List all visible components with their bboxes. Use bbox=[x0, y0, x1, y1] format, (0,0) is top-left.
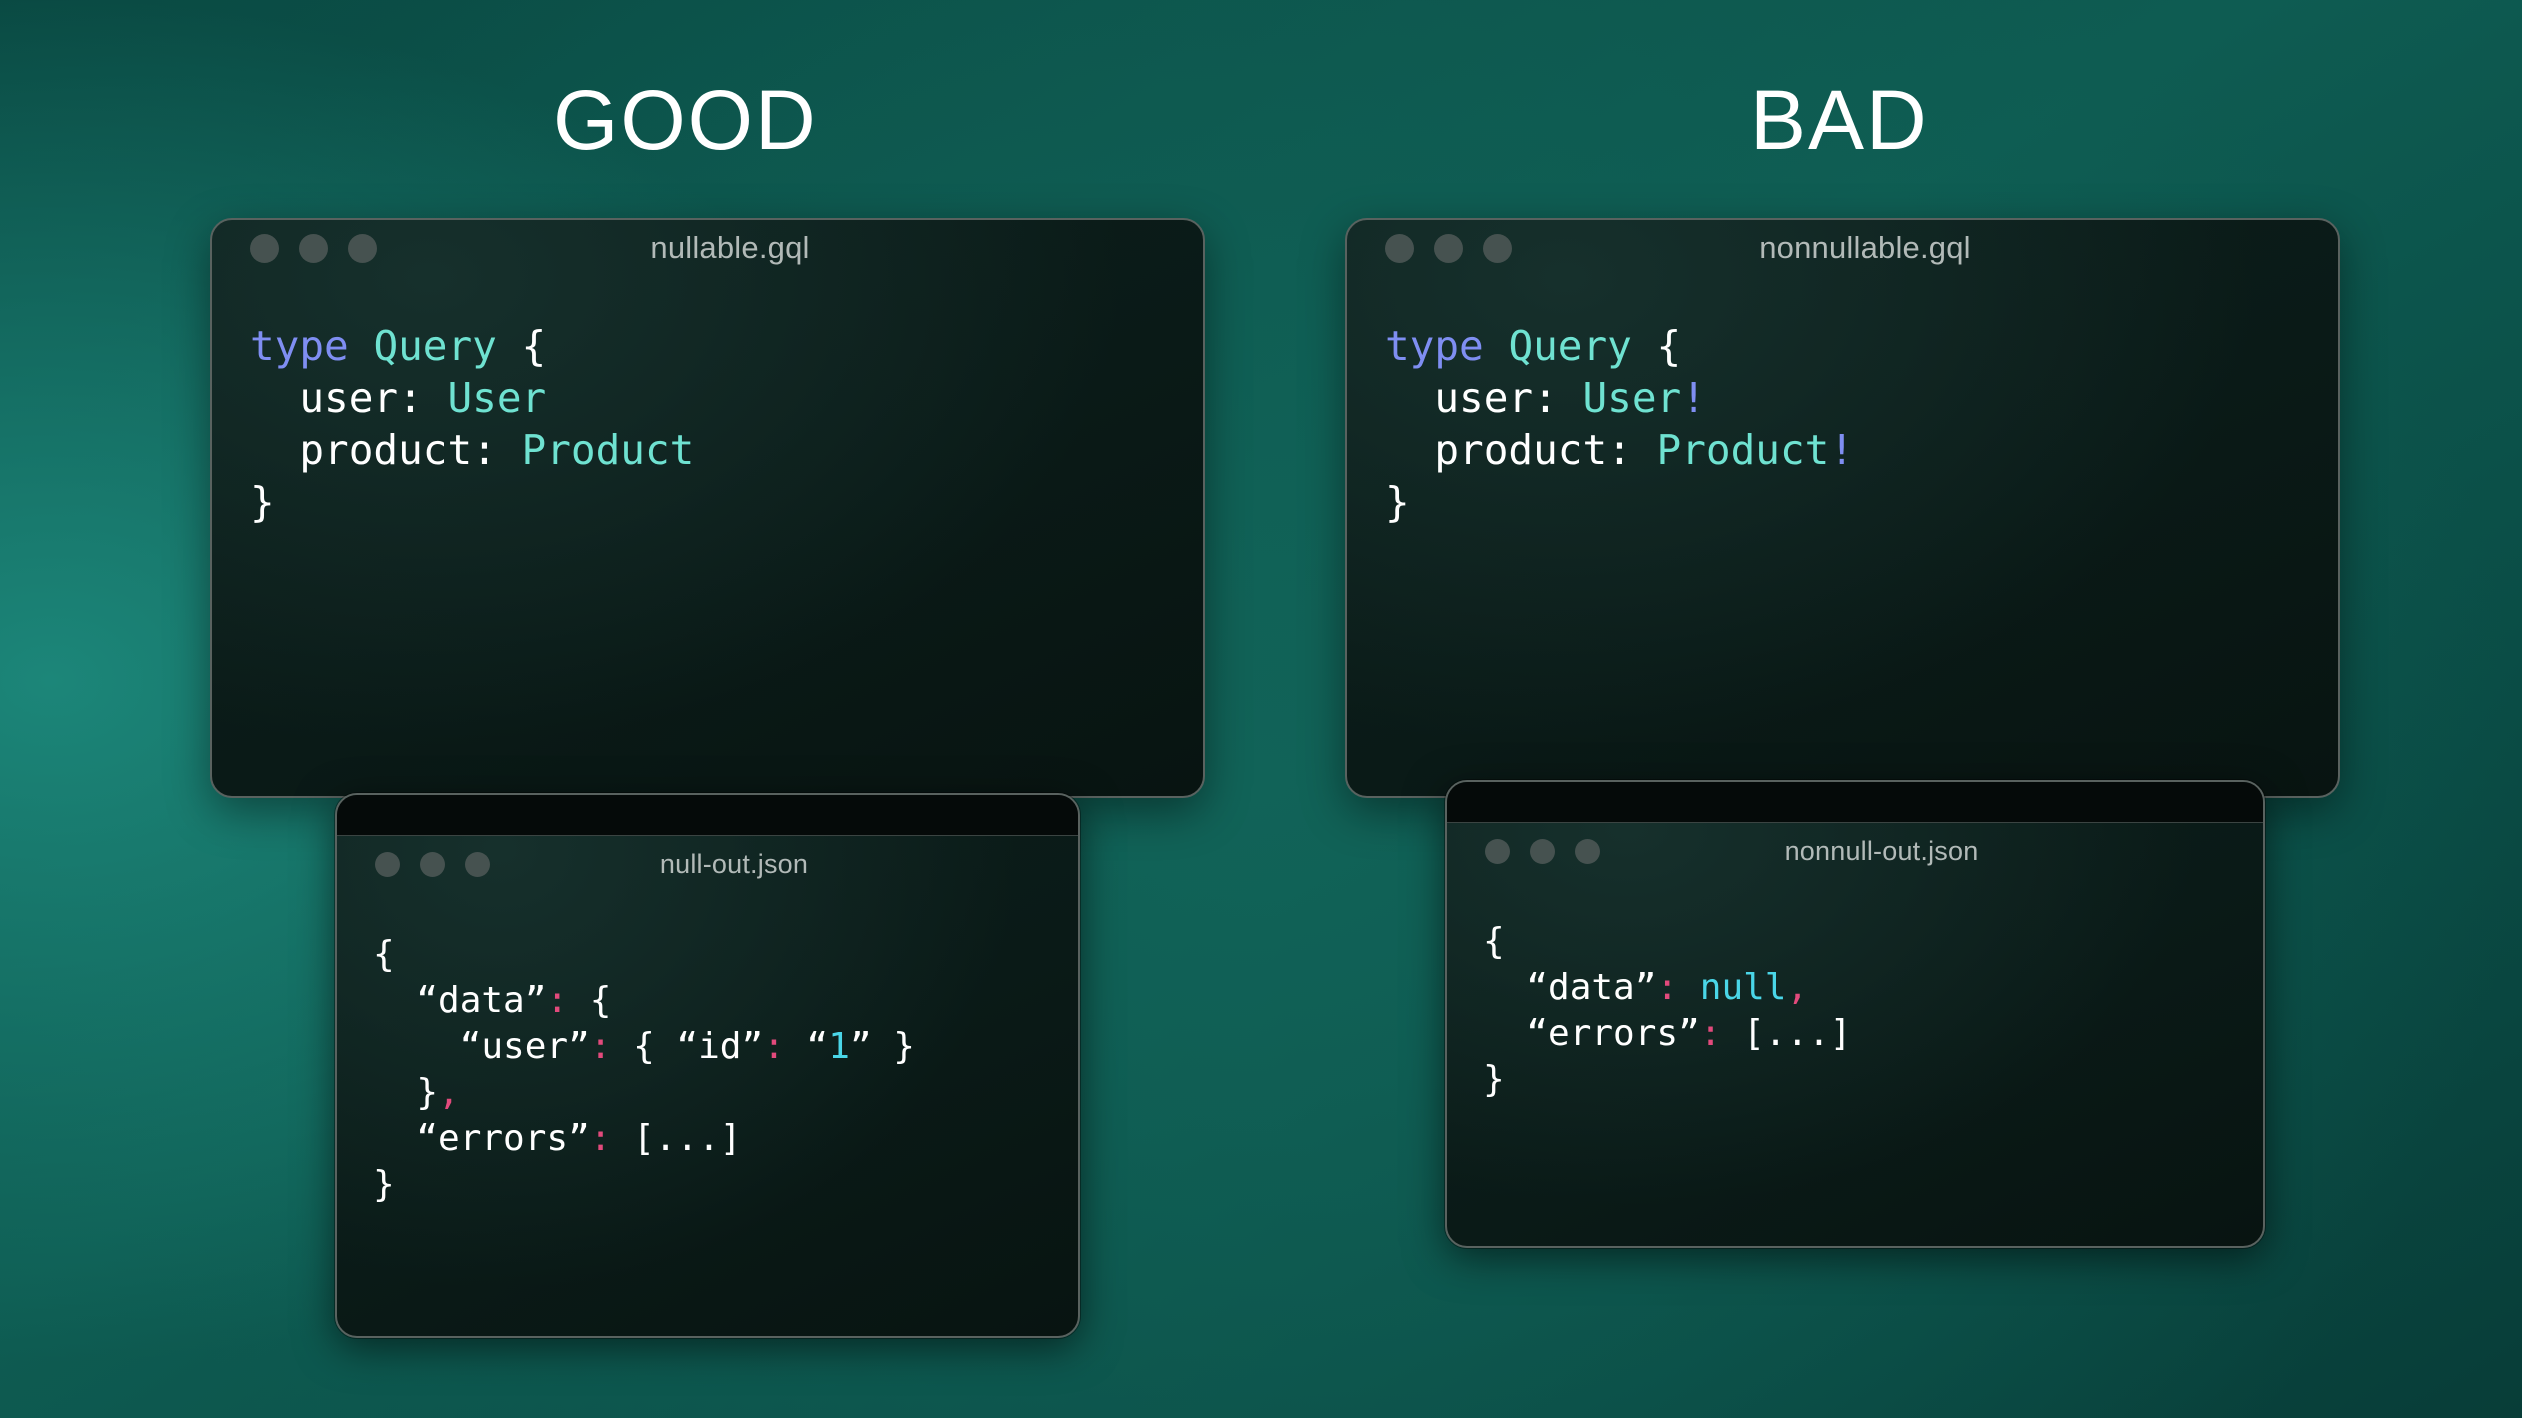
code-token: : bbox=[590, 1026, 612, 1067]
code-token: ” } bbox=[850, 1026, 915, 1067]
code-token: null bbox=[1700, 967, 1787, 1008]
code-token: “data” bbox=[1483, 967, 1656, 1008]
code-token: { bbox=[1632, 322, 1681, 370]
code-token: } bbox=[373, 1072, 438, 1113]
code-token: [...] bbox=[611, 1118, 741, 1159]
code-token: [...] bbox=[1721, 1013, 1851, 1054]
code-token: Query bbox=[1508, 322, 1631, 370]
code-token: { bbox=[1483, 921, 1505, 962]
code-token: type bbox=[250, 322, 349, 370]
code-token bbox=[1678, 967, 1700, 1008]
code-token: type bbox=[1385, 322, 1484, 370]
code-line: }, bbox=[373, 1070, 1078, 1116]
column-heading-bad: BAD bbox=[1750, 78, 1929, 162]
code-line: “errors”: [...] bbox=[373, 1116, 1078, 1162]
code-token: : bbox=[1656, 967, 1678, 1008]
code-token: : bbox=[1700, 1013, 1722, 1054]
code-block: { “data”: null, “errors”: [...]} bbox=[1447, 879, 2263, 1103]
window-title: nullable.gql bbox=[377, 230, 1083, 266]
code-token: { bbox=[497, 322, 546, 370]
code-line: user: User bbox=[250, 372, 1203, 424]
code-token: , bbox=[1786, 967, 1808, 1008]
minimize-dot-icon[interactable] bbox=[1434, 234, 1463, 263]
close-dot-icon[interactable] bbox=[1385, 234, 1414, 263]
code-token: : bbox=[546, 980, 568, 1021]
code-token: Query bbox=[373, 322, 496, 370]
code-token: ! bbox=[1681, 374, 1706, 422]
window-titlebar: nonnullable.gql bbox=[1347, 220, 2338, 276]
code-token: { bbox=[568, 980, 611, 1021]
window-titlebar: nullable.gql bbox=[212, 220, 1203, 276]
code-token: user: bbox=[1385, 374, 1582, 422]
code-token bbox=[349, 322, 374, 370]
maximize-dot-icon[interactable] bbox=[1483, 234, 1512, 263]
code-token: : bbox=[590, 1118, 612, 1159]
code-line: { bbox=[373, 932, 1078, 978]
code-line: type Query { bbox=[250, 320, 1203, 372]
code-window-nonnull-out-json[interactable]: nonnull-out.json { “data”: null, “errors… bbox=[1445, 780, 2265, 1248]
code-line: product: Product! bbox=[1385, 424, 2338, 476]
code-token: : bbox=[763, 1026, 785, 1067]
minimize-dot-icon[interactable] bbox=[1530, 839, 1555, 864]
code-token: } bbox=[373, 1164, 395, 1205]
close-dot-icon[interactable] bbox=[250, 234, 279, 263]
code-block: type Query { user: User product: Product… bbox=[212, 276, 1203, 528]
code-token: “data” bbox=[373, 980, 546, 1021]
code-line: } bbox=[250, 476, 1203, 528]
code-token: product: bbox=[1385, 426, 1657, 474]
minimize-dot-icon[interactable] bbox=[420, 852, 445, 877]
window-traffic-lights bbox=[1385, 234, 1512, 263]
code-token: 1 bbox=[828, 1026, 850, 1067]
close-dot-icon[interactable] bbox=[1485, 839, 1510, 864]
window-title: nonnull-out.json bbox=[1600, 836, 2163, 867]
code-token: { “id” bbox=[611, 1026, 763, 1067]
code-token: “ bbox=[785, 1026, 828, 1067]
code-block: { “data”: { “user”: { “id”: “1” } }, “er… bbox=[337, 892, 1078, 1208]
code-line: product: Product bbox=[250, 424, 1203, 476]
code-token: Product bbox=[1657, 426, 1830, 474]
code-line: “data”: { bbox=[373, 978, 1078, 1024]
code-token: User bbox=[447, 374, 546, 422]
code-block: type Query { user: User! product: Produc… bbox=[1347, 276, 2338, 528]
code-line: user: User! bbox=[1385, 372, 2338, 424]
code-token: { bbox=[373, 934, 395, 975]
minimize-dot-icon[interactable] bbox=[299, 234, 328, 263]
code-token: “errors” bbox=[373, 1118, 590, 1159]
code-token: user: bbox=[250, 374, 447, 422]
code-token: “user” bbox=[373, 1026, 590, 1067]
code-token: } bbox=[1483, 1059, 1505, 1100]
code-token: Product bbox=[522, 426, 695, 474]
close-dot-icon[interactable] bbox=[375, 852, 400, 877]
code-token: User bbox=[1582, 374, 1681, 422]
window-title: null-out.json bbox=[490, 849, 978, 880]
code-token: } bbox=[1385, 478, 1410, 526]
code-line: { bbox=[1483, 919, 2263, 965]
slide-canvas: GOOD nullable.gql type Query { user: Use… bbox=[0, 0, 2522, 1418]
window-traffic-lights bbox=[375, 852, 490, 877]
code-token: “errors” bbox=[1483, 1013, 1700, 1054]
code-window-null-out-json[interactable]: null-out.json { “data”: { “user”: { “id”… bbox=[335, 793, 1080, 1338]
column-heading-good: GOOD bbox=[553, 78, 818, 162]
window-traffic-lights bbox=[250, 234, 377, 263]
code-line: “data”: null, bbox=[1483, 965, 2263, 1011]
code-token bbox=[1484, 322, 1509, 370]
code-line: “user”: { “id”: “1” } bbox=[373, 1024, 1078, 1070]
code-window-nullable-gql[interactable]: nullable.gql type Query { user: User pro… bbox=[210, 218, 1205, 798]
window-titlebar: nonnull-out.json bbox=[1447, 823, 2263, 879]
code-token: , bbox=[438, 1072, 460, 1113]
code-line: } bbox=[1385, 476, 2338, 528]
code-token: product: bbox=[250, 426, 522, 474]
window-title: nonnullable.gql bbox=[1512, 230, 2218, 266]
code-line: type Query { bbox=[1385, 320, 2338, 372]
window-titlebar: null-out.json bbox=[337, 836, 1078, 892]
code-token: } bbox=[250, 478, 275, 526]
code-token: ! bbox=[1829, 426, 1854, 474]
maximize-dot-icon[interactable] bbox=[465, 852, 490, 877]
code-line: } bbox=[1483, 1057, 2263, 1103]
code-line: “errors”: [...] bbox=[1483, 1011, 2263, 1057]
maximize-dot-icon[interactable] bbox=[1575, 839, 1600, 864]
code-line: } bbox=[373, 1162, 1078, 1208]
code-window-nonnullable-gql[interactable]: nonnullable.gql type Query { user: User!… bbox=[1345, 218, 2340, 798]
window-traffic-lights bbox=[1485, 839, 1600, 864]
maximize-dot-icon[interactable] bbox=[348, 234, 377, 263]
